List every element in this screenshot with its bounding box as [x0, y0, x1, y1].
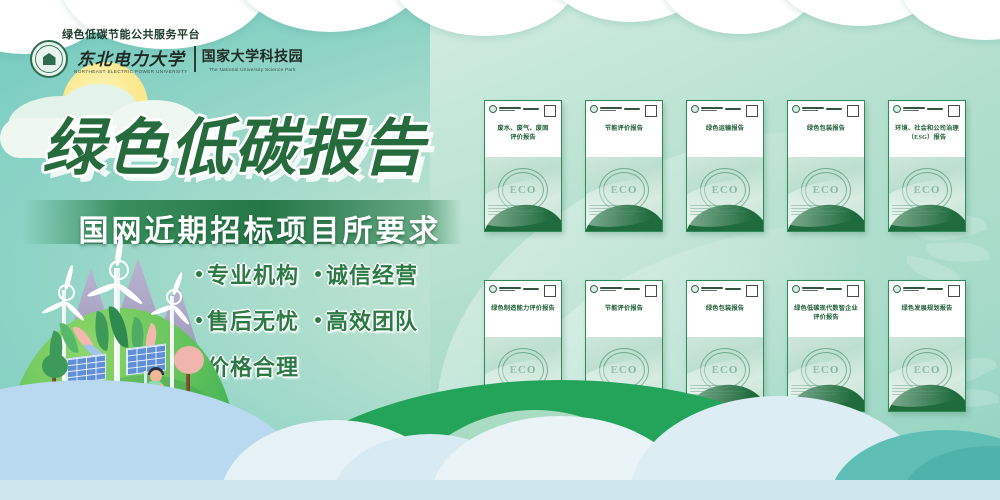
park-name-cn: 国家大学科技园: [202, 46, 304, 66]
empty-checkbox-icon[interactable]: [544, 285, 556, 297]
card-logo: [590, 105, 640, 113]
report-card-grid: 废水、废气、废固评价报告 ECO 节能评价报告: [484, 100, 994, 422]
tree-trunk: [52, 372, 56, 416]
card-title: 废水、废气、废固评价报告: [489, 125, 557, 143]
eco-seal-icon: ECO: [801, 348, 851, 392]
eco-seal-icon: ECO: [498, 168, 548, 212]
page-title: 绿色低碳报告: [42, 118, 472, 180]
empty-checkbox-icon[interactable]: [847, 285, 859, 297]
report-card[interactable]: 绿色低碳现代数智企业评价报告 ECO: [787, 280, 865, 412]
brand-logo-row: 东北电力大学 NORTHEAST ELECTRIC POWER UNIVERSI…: [30, 40, 303, 78]
card-title: 节能评价报告: [590, 125, 658, 134]
card-seal-icon: [792, 105, 800, 113]
card-seal-icon: [792, 285, 800, 293]
card-footer-lines: [791, 205, 853, 217]
empty-checkbox-icon[interactable]: [746, 105, 758, 117]
report-card[interactable]: 节能评价报告 ECO: [585, 100, 663, 232]
university-name-en: NORTHEAST ELECTRIC POWER UNIVERSITY: [74, 69, 188, 74]
card-title: 绿色制造能力评价报告: [489, 305, 557, 314]
card-logo: [489, 105, 539, 113]
empty-checkbox-icon[interactable]: [948, 285, 960, 297]
bush-shape: [82, 480, 128, 496]
card-footer-lines: [892, 205, 954, 217]
empty-checkbox-icon[interactable]: [544, 105, 556, 117]
eco-seal-icon: ECO: [700, 348, 750, 392]
card-seal-icon: [691, 285, 699, 293]
eco-seal-icon: ECO: [902, 168, 952, 212]
empty-checkbox-icon[interactable]: [746, 285, 758, 297]
report-card[interactable]: 绿色包装报告 ECO: [787, 100, 865, 232]
card-footer-lines: [488, 205, 550, 217]
eco-seal-icon: ECO: [599, 168, 649, 212]
report-card[interactable]: 绿色发展规划报告 ECO: [888, 280, 966, 412]
tree-icon-pink: [174, 346, 204, 374]
card-logo: [893, 285, 943, 293]
card-logo: [691, 105, 741, 113]
card-title: 节能评价报告: [590, 305, 658, 314]
card-logo: [792, 105, 842, 113]
eco-seal-icon: ECO: [902, 348, 952, 392]
feature-item-2: 诚信经营: [315, 258, 418, 290]
eco-seal-icon: ECO: [700, 168, 750, 212]
card-logo: [691, 285, 741, 293]
card-title: 环境、社会和公司治理（ESG）报告: [893, 125, 961, 143]
empty-checkbox-icon[interactable]: [847, 105, 859, 117]
card-logo: [792, 285, 842, 293]
feature-label: 诚信经营: [326, 258, 418, 290]
card-seal-icon: [893, 285, 901, 293]
card-title: 绿色发展规划报告: [893, 305, 961, 314]
eco-seal-icon: ECO: [498, 348, 548, 392]
card-footer-lines: [488, 385, 550, 397]
card-footer-lines: [892, 385, 954, 397]
bullet-dot-icon: [315, 317, 321, 323]
card-seal-icon: [489, 105, 497, 113]
card-seal-icon: [590, 105, 598, 113]
tree-trunk: [90, 432, 95, 488]
feature-label: 高效团队: [326, 304, 418, 336]
card-title: 绿色包装报告: [691, 305, 759, 314]
report-card[interactable]: 绿色制造能力评价报告 ECO: [484, 280, 562, 412]
empty-checkbox-icon[interactable]: [645, 105, 657, 117]
card-footer-lines: [690, 385, 752, 397]
bush-shape: [40, 428, 68, 442]
university-seal-icon: [30, 40, 68, 78]
tree-icon-small: [42, 354, 68, 378]
report-card[interactable]: 环境、社会和公司治理（ESG）报告 ECO: [888, 100, 966, 232]
card-logo: [893, 105, 943, 113]
bullet-dot-icon: [315, 271, 321, 277]
card-footer-lines: [690, 205, 752, 217]
solar-panel-leg: [84, 380, 87, 394]
card-seal-icon: [691, 105, 699, 113]
eco-seal-icon: ECO: [599, 348, 649, 392]
feature-item-4: 高效团队: [315, 304, 418, 336]
university-name-cn: 东北电力大学: [77, 45, 185, 70]
card-seal-icon: [893, 105, 901, 113]
eco-seal-icon: ECO: [801, 168, 851, 212]
card-seal-icon: [590, 285, 598, 293]
logo-divider: [194, 46, 196, 72]
report-card[interactable]: 节能评价报告 ECO: [585, 280, 663, 412]
empty-checkbox-icon[interactable]: [948, 105, 960, 117]
card-footer-lines: [589, 205, 651, 217]
report-card[interactable]: 绿色包装报告 ECO: [686, 280, 764, 412]
card-footer-lines: [589, 385, 651, 397]
card-footer-lines: [791, 385, 853, 397]
report-card[interactable]: 废水、废气、废固评价报告 ECO: [484, 100, 562, 232]
park-name-en: The National University Science Park: [209, 67, 296, 72]
card-logo: [489, 285, 539, 293]
card-logo: [590, 285, 640, 293]
empty-checkbox-icon[interactable]: [645, 285, 657, 297]
report-card[interactable]: 绿色运输报告 ECO: [686, 100, 764, 232]
card-title: 绿色包装报告: [792, 125, 860, 134]
card-title: 绿色低碳现代数智企业评价报告: [792, 305, 860, 323]
card-seal-icon: [489, 285, 497, 293]
poster-canvas: 绿色低碳节能公共服务平台 东北电力大学 NORTHEAST ELECTRIC P…: [0, 0, 1000, 500]
walking-person-icon: [138, 368, 178, 424]
green-hill-eco-illustration: [0, 250, 260, 500]
card-title: 绿色运输报告: [691, 125, 759, 134]
